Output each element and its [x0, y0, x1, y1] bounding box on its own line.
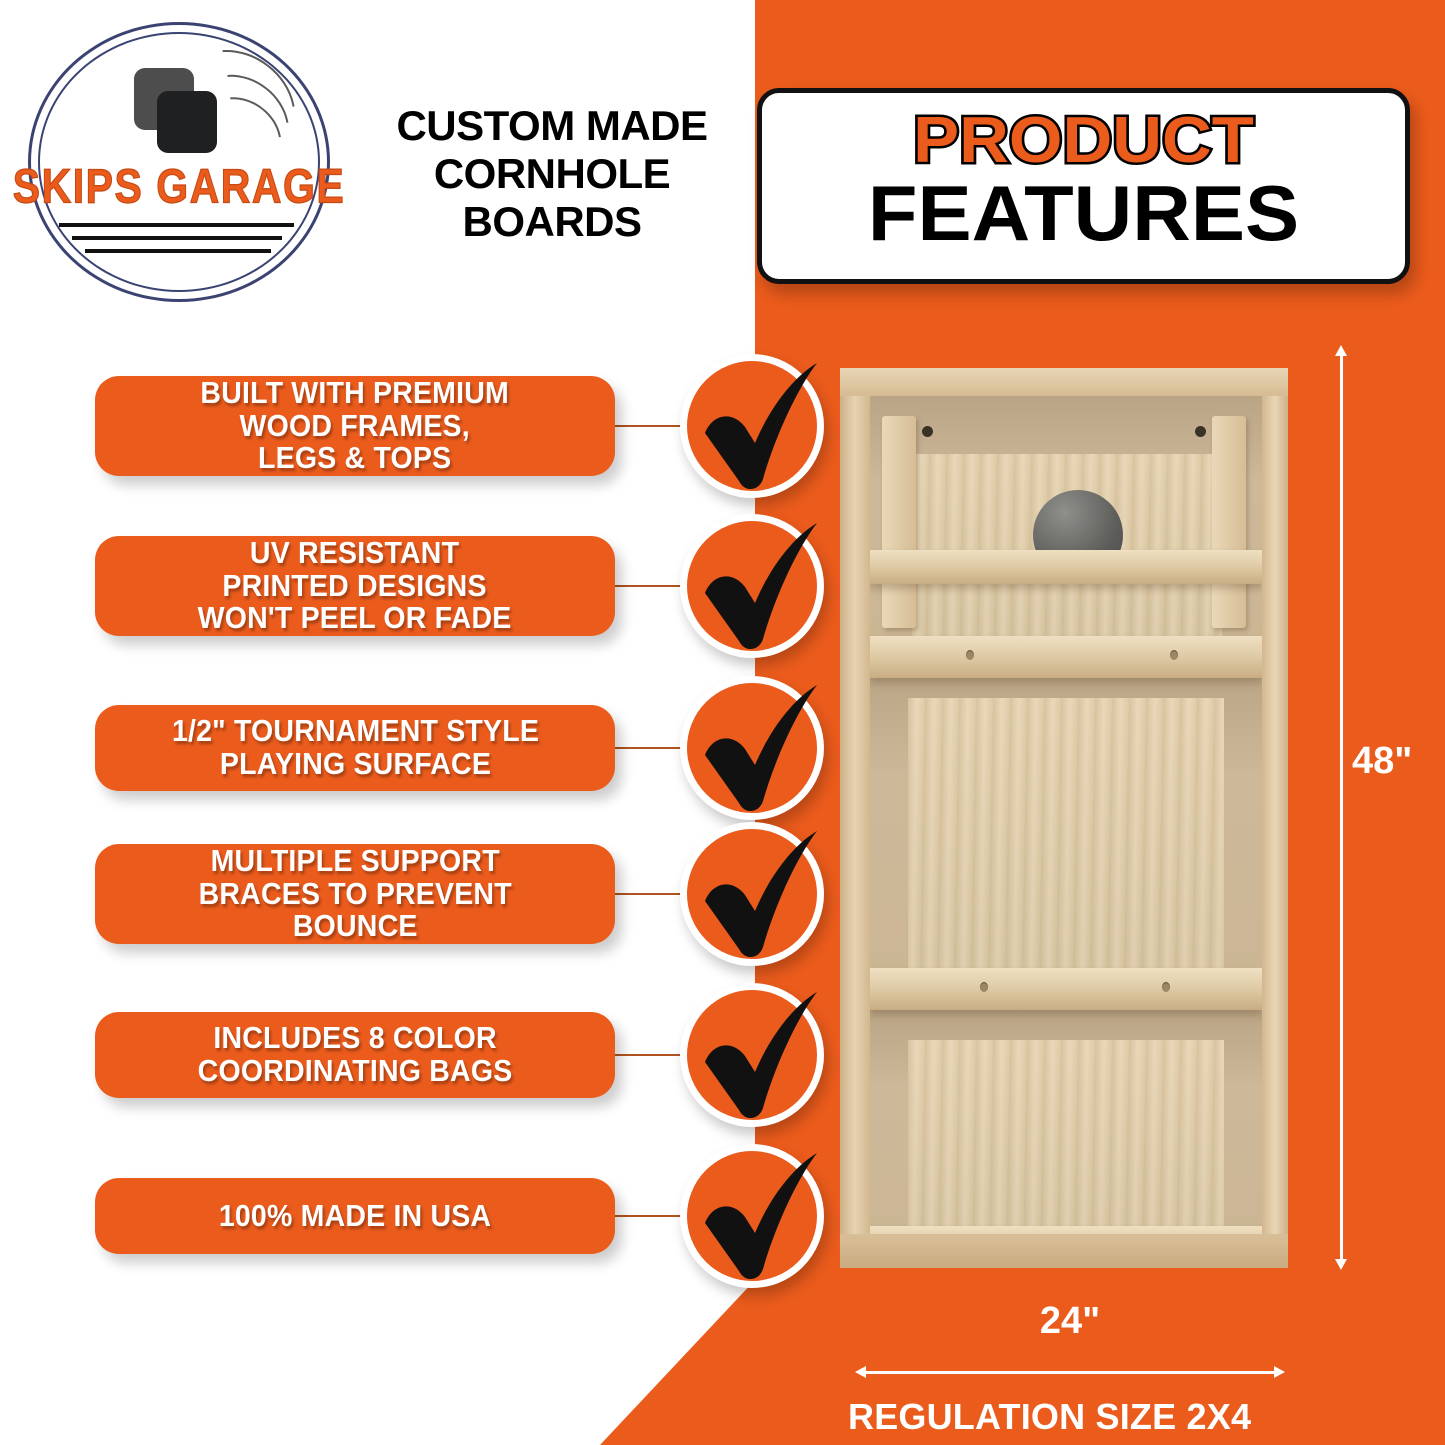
feature-pill-text: INCLUDES 8 COLORCOORDINATING BAGS	[198, 1022, 513, 1088]
feature-pill-line: WOOD FRAMES,	[201, 410, 510, 443]
screw-icon	[1162, 982, 1170, 992]
board-frame-top	[840, 368, 1288, 396]
feature-pill-line: BOUNCE	[198, 910, 511, 943]
board-panel	[908, 698, 1224, 970]
check-icon	[693, 984, 825, 1134]
feature-check-badge-3	[680, 676, 824, 820]
feature-pill-line: COORDINATING BAGS	[198, 1055, 513, 1088]
feature-pill-line: MULTIPLE SUPPORT	[198, 845, 511, 878]
width-dimension-arrow	[855, 1366, 1285, 1378]
product-photo-cornhole-board-back	[840, 368, 1288, 1268]
support-brace	[870, 636, 1262, 678]
check-icon	[693, 823, 825, 973]
feature-pill-text: UV RESISTANTPRINTED DESIGNSWON'T PEEL OR…	[198, 537, 512, 636]
feature-pill-5[interactable]: INCLUDES 8 COLORCOORDINATING BAGS	[95, 1012, 615, 1098]
regulation-size-note: REGULATION SIZE 2X4	[848, 1396, 1308, 1438]
screw-icon	[1170, 650, 1178, 660]
feature-pill-1[interactable]: BUILT WITH PREMIUMWOOD FRAMES,LEGS & TOP…	[95, 376, 615, 476]
screw-icon	[980, 982, 988, 992]
feature-pill-line: PLAYING SURFACE	[171, 748, 538, 781]
leg-bolt-left	[922, 426, 933, 437]
feature-pill-text: MULTIPLE SUPPORTBRACES TO PREVENTBOUNCE	[198, 845, 511, 944]
feature-pill-line: WON'T PEEL OR FADE	[198, 602, 512, 635]
support-brace	[870, 550, 1262, 584]
feature-pill-line: BRACES TO PREVENT	[198, 878, 511, 911]
feature-pill-line: UV RESISTANT	[198, 537, 512, 570]
check-icon	[693, 677, 825, 827]
check-icon	[693, 355, 825, 505]
feature-pill-6[interactable]: 100% MADE IN USA	[95, 1178, 615, 1254]
height-dimension-arrow	[1335, 345, 1347, 1270]
feature-pill-4[interactable]: MULTIPLE SUPPORTBRACES TO PREVENTBOUNCE	[95, 844, 615, 944]
feature-pill-text: 100% MADE IN USA	[219, 1200, 491, 1233]
board-leg-right	[1212, 416, 1246, 628]
feature-check-badge-5	[680, 983, 824, 1127]
feature-pill-line: PRINTED DESIGNS	[198, 570, 512, 603]
feature-check-badge-2	[680, 514, 824, 658]
feature-list: BUILT WITH PREMIUMWOOD FRAMES,LEGS & TOP…	[0, 0, 900, 1445]
feature-pill-line: 1/2" TOURNAMENT STYLE	[171, 715, 538, 748]
feature-check-badge-4	[680, 822, 824, 966]
feature-pill-line: BUILT WITH PREMIUM	[201, 377, 510, 410]
feature-check-badge-1	[680, 354, 824, 498]
feature-pill-line: INCLUDES 8 COLOR	[198, 1022, 513, 1055]
height-dimension-label: 48"	[1352, 740, 1412, 783]
feature-pill-text: BUILT WITH PREMIUMWOOD FRAMES,LEGS & TOP…	[201, 377, 510, 476]
support-brace	[870, 968, 1262, 1010]
check-icon	[693, 515, 825, 665]
feature-pill-line: LEGS & TOPS	[201, 442, 510, 475]
board-frame-right	[1262, 368, 1288, 1268]
check-icon	[693, 1145, 825, 1295]
arrow-shaft	[864, 1371, 1276, 1374]
arrow-shaft	[1340, 354, 1343, 1261]
arrow-down-icon	[1335, 1259, 1347, 1270]
feature-pill-2[interactable]: UV RESISTANTPRINTED DESIGNSWON'T PEEL OR…	[95, 536, 615, 636]
screw-icon	[966, 650, 974, 660]
arrow-right-icon	[1274, 1366, 1285, 1378]
width-dimension-label: 24"	[855, 1300, 1285, 1343]
board-panel	[908, 1040, 1224, 1230]
feature-pill-3[interactable]: 1/2" TOURNAMENT STYLEPLAYING SURFACE	[95, 705, 615, 791]
feature-check-badge-6	[680, 1144, 824, 1288]
feature-pill-text: 1/2" TOURNAMENT STYLEPLAYING SURFACE	[171, 715, 538, 781]
board-frame-bottom	[840, 1234, 1288, 1268]
leg-bolt-right	[1195, 426, 1206, 437]
feature-pill-line: 100% MADE IN USA	[219, 1200, 491, 1233]
